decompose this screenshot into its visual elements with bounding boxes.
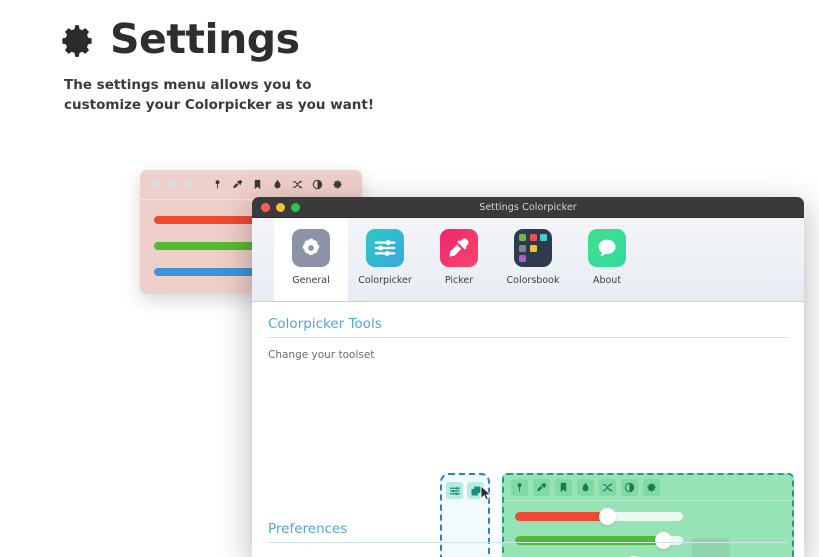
zoom-button[interactable] bbox=[185, 180, 194, 189]
swatch-4 bbox=[519, 245, 526, 252]
section-heading-colorpicker-tools: Colorpicker Tools bbox=[268, 302, 788, 338]
contrast-icon[interactable] bbox=[312, 179, 323, 190]
page-header: Settings The settings menu allows you to… bbox=[58, 18, 578, 115]
swatch-8 bbox=[530, 255, 537, 262]
page-subtitle: The settings menu allows you to customiz… bbox=[64, 76, 578, 115]
settings-titlebar: Settings Colorpicker bbox=[252, 197, 804, 218]
gear-icon bbox=[58, 22, 96, 60]
tab-label: Picker bbox=[445, 275, 473, 286]
tab-colorpicker[interactable]: Colorpicker bbox=[348, 218, 422, 301]
bookmark-icon[interactable] bbox=[252, 179, 263, 190]
color-grid bbox=[519, 234, 547, 262]
eyedropper-icon[interactable] bbox=[533, 479, 550, 496]
pin-icon[interactable] bbox=[212, 179, 223, 190]
settings-window[interactable]: Settings Colorpicker General Co bbox=[252, 197, 804, 557]
window-title: Settings Colorpicker bbox=[252, 202, 804, 213]
speech-bubble-icon bbox=[588, 229, 626, 267]
swatch-7 bbox=[519, 255, 526, 262]
tab-picker[interactable]: Picker bbox=[422, 218, 496, 301]
bookmark-icon[interactable] bbox=[555, 479, 572, 496]
settings-content: Colorpicker Tools Change your toolset bbox=[252, 302, 804, 557]
gear-flower-icon bbox=[292, 229, 330, 267]
mouse-cursor-icon bbox=[480, 485, 492, 501]
tab-colorsbook[interactable]: Colorsbook bbox=[496, 218, 570, 301]
shuffle-icon[interactable] bbox=[599, 479, 616, 496]
tab-general[interactable]: General bbox=[274, 218, 348, 301]
swatch-6 bbox=[540, 245, 547, 252]
gear-icon[interactable] bbox=[643, 479, 660, 496]
droplet-icon[interactable] bbox=[272, 179, 283, 190]
title-row: Settings bbox=[58, 18, 578, 60]
section-heading-preferences: Preferences bbox=[268, 507, 788, 543]
tab-label: About bbox=[593, 275, 621, 286]
background-window-toolbar[interactable] bbox=[212, 179, 343, 190]
eyedropper-icon[interactable] bbox=[232, 179, 243, 190]
swatch-3 bbox=[540, 234, 547, 241]
tab-label: General bbox=[292, 275, 329, 286]
swatch-2 bbox=[530, 234, 537, 241]
page-title: Settings bbox=[110, 19, 300, 60]
gear-icon[interactable] bbox=[332, 179, 343, 190]
contrast-icon[interactable] bbox=[621, 479, 638, 496]
swatch-5 bbox=[530, 245, 537, 252]
settings-tab-bar[interactable]: General Colorpicker Picker bbox=[252, 218, 804, 302]
tab-label: Colorpicker bbox=[358, 275, 412, 286]
tab-about[interactable]: About bbox=[570, 218, 644, 301]
tab-label: Colorsbook bbox=[507, 275, 560, 286]
close-button[interactable] bbox=[151, 180, 160, 189]
swatch-9 bbox=[540, 255, 547, 262]
color-grid-icon bbox=[514, 229, 552, 267]
panel-toolbar[interactable] bbox=[504, 475, 792, 501]
section-subtext: Change your toolset bbox=[268, 349, 804, 361]
droplet-icon[interactable] bbox=[577, 479, 594, 496]
minimize-button[interactable] bbox=[168, 180, 177, 189]
swatch-1 bbox=[519, 234, 526, 241]
pin-icon[interactable] bbox=[511, 479, 528, 496]
sliders-icon[interactable] bbox=[446, 482, 463, 499]
background-window-traffic-lights[interactable] bbox=[151, 180, 194, 189]
sliders-icon bbox=[366, 229, 404, 267]
background-window-titlebar bbox=[140, 170, 362, 200]
shuffle-icon[interactable] bbox=[292, 179, 303, 190]
eyedropper-icon bbox=[440, 229, 478, 267]
